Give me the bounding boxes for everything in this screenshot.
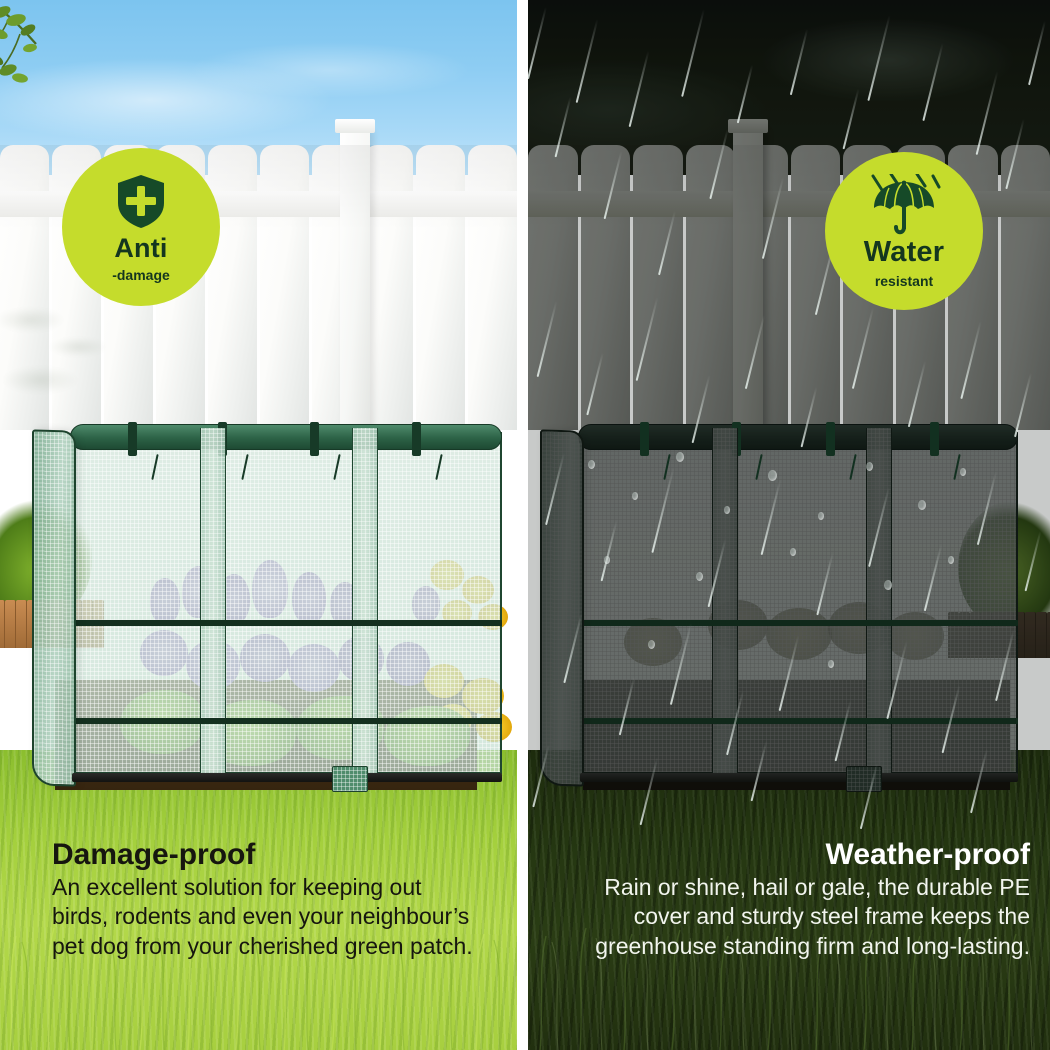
badge-title: Anti — [114, 235, 167, 262]
greenhouse-strap — [640, 422, 649, 456]
greenhouse-side-flap — [540, 429, 584, 786]
badge-subtitle: -damage — [112, 268, 170, 282]
umbrella-rain-icon — [865, 174, 943, 236]
greenhouse-strap — [310, 422, 319, 456]
shield-plus-icon — [115, 173, 167, 229]
tree-branch-leaves — [0, 4, 104, 119]
greenhouse-side-flap — [32, 429, 76, 786]
badge-water-resistant: Water resistant — [825, 152, 983, 310]
caption-damage-proof: Damage-proof An excellent solution for k… — [52, 838, 482, 962]
greenhouse-foot — [332, 766, 368, 792]
caption-body: An excellent solution for keeping out bi… — [52, 873, 482, 963]
fence-post-cap — [728, 119, 768, 133]
panel-divider — [517, 0, 528, 1050]
panel-left-sunny: Anti -damage Damage-proof An excellent s… — [0, 0, 517, 1050]
fence-post-cap — [335, 119, 375, 133]
picket-fence-grey — [528, 145, 1050, 430]
greenhouse-strap — [930, 422, 939, 456]
caption-weather-proof: Weather-proof Rain or shine, hail or gal… — [590, 838, 1030, 962]
greenhouse-base-rail — [580, 773, 1018, 782]
panel-right-rainy: Water resistant Weather-proof Rain or sh… — [528, 0, 1050, 1050]
greenhouse-cross-bar — [72, 718, 502, 724]
caption-title: Damage-proof — [52, 838, 482, 873]
greenhouse-strap — [412, 422, 421, 456]
greenhouse-base-rail — [72, 773, 502, 782]
fence-shading — [528, 145, 1050, 430]
badge-subtitle: resistant — [875, 274, 933, 288]
mini-greenhouse-rainy — [540, 418, 1018, 790]
caption-body: Rain or shine, hail or gale, the durable… — [590, 873, 1030, 963]
greenhouse-strap — [826, 422, 835, 456]
mini-greenhouse-sunny — [32, 418, 502, 790]
greenhouse-cross-bar — [72, 620, 502, 626]
greenhouse-cross-bar — [580, 620, 1018, 626]
badge-title: Water — [864, 238, 945, 267]
caption-title: Weather-proof — [590, 838, 1030, 873]
product-feature-image: Anti -damage Damage-proof An excellent s… — [0, 0, 1050, 1050]
greenhouse-cross-bar — [580, 718, 1018, 724]
badge-anti-damage: Anti -damage — [62, 148, 220, 306]
greenhouse-strap — [128, 422, 137, 456]
greenhouse-foot — [846, 766, 882, 792]
